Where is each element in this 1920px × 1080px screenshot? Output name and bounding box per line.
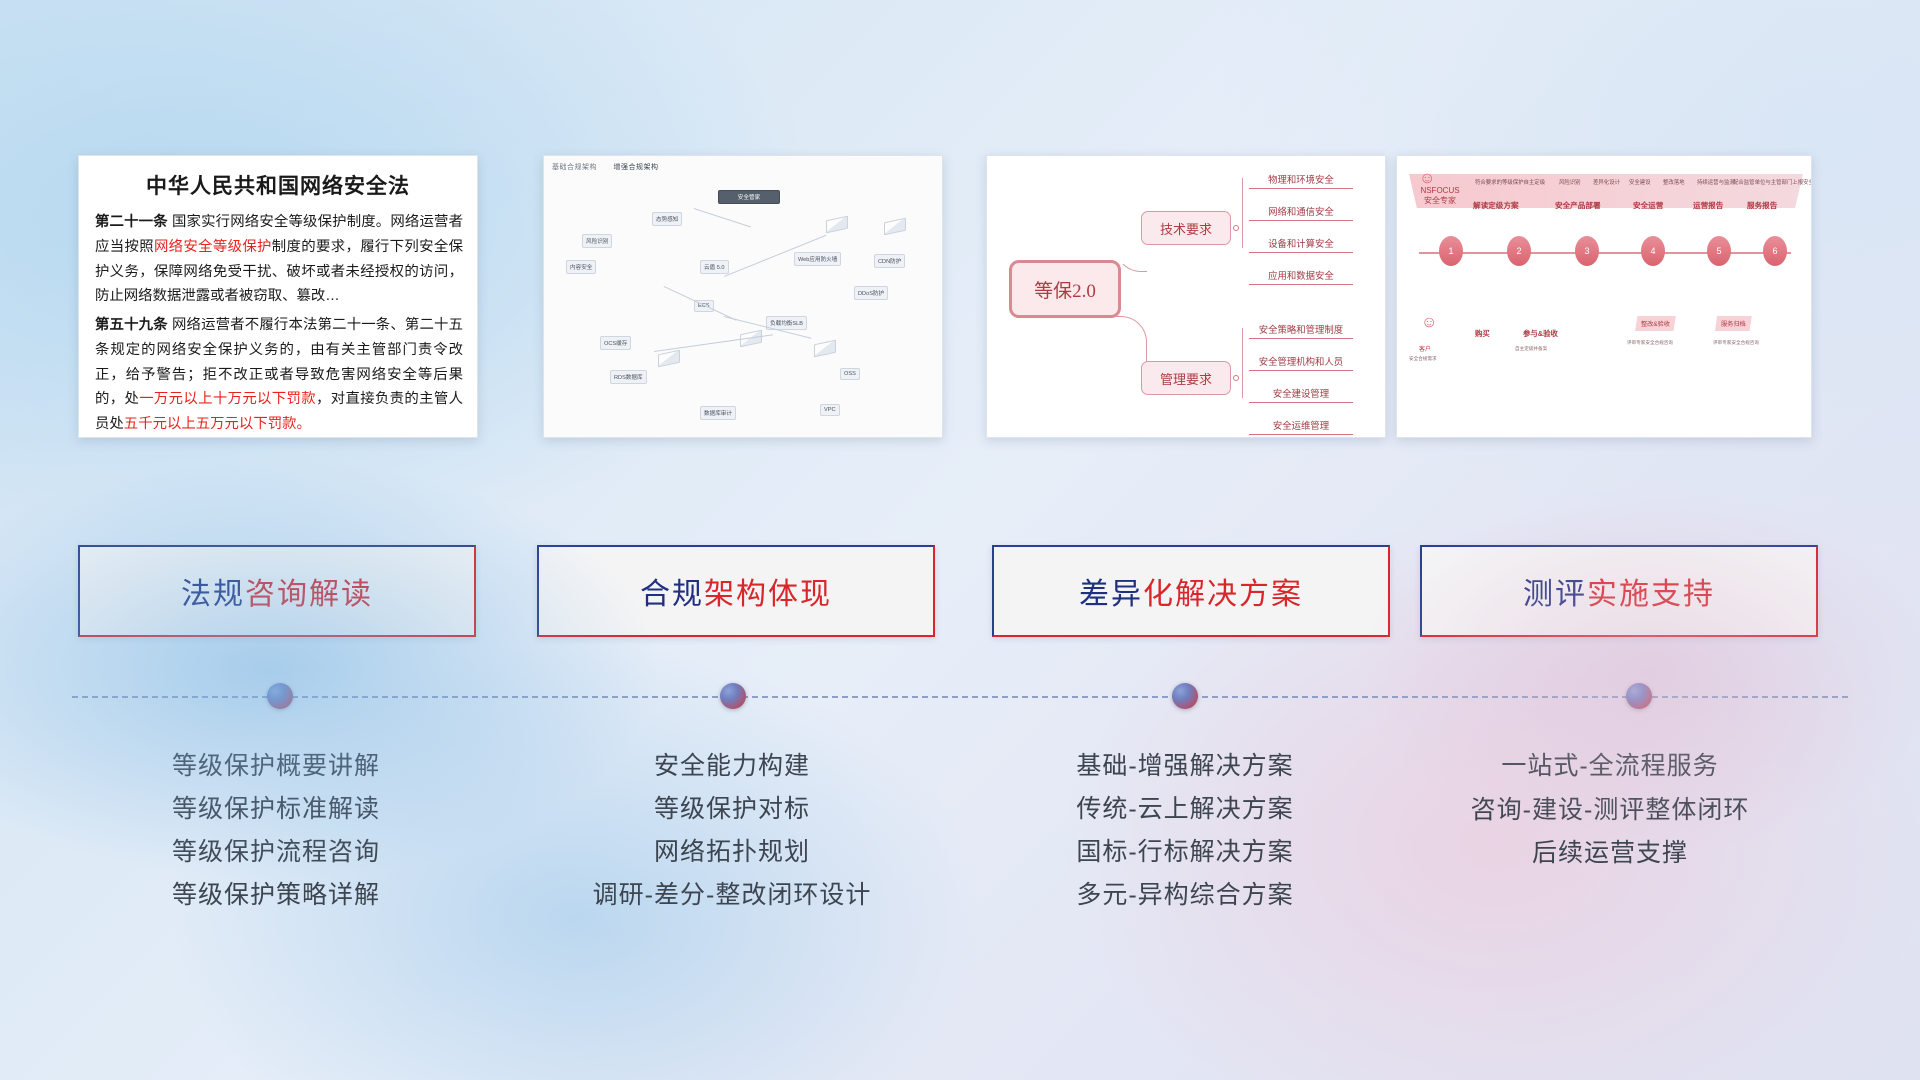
arch-node-cloud-shield: 云盾 5.0 (700, 260, 729, 274)
roadmap-top-label-1: 风险识别 (1559, 178, 1581, 186)
arch-cube-icon-5 (658, 352, 680, 365)
timeline-dot-4[interactable] (1626, 683, 1652, 709)
roadmap-chip-1: 服务归档 (1715, 316, 1752, 331)
arch-link-1 (694, 208, 751, 227)
arch-node-security-butler: 安全管家 (718, 190, 780, 204)
roadmap-brand: NSFOCUS 安全专家 (1413, 186, 1467, 206)
pill-3-suffix: 化解决方案 (1143, 569, 1303, 613)
pill-2-prefix: 合规 (640, 569, 704, 613)
customer-person-icon: ☺ (1421, 314, 1437, 332)
image-card-row: 中华人民共和国网络安全法 第二十一条 国家实行网络安全等级保护制度。网络运营者应… (0, 155, 1920, 445)
roadmap-brand-name: NSFOCUS (1413, 186, 1467, 196)
roadmap-customer-note: 安全合规需求 (1409, 356, 1437, 362)
law-article-21-label: 第二十一条 (95, 214, 168, 230)
list-item: 多元-异构综合方案 (975, 874, 1395, 917)
mindmap-leaf-operations: 安全运维管理 (1249, 418, 1353, 435)
roadmap-chip-note-0: 评审专家安全合规咨询 (1627, 340, 1673, 346)
list-item: 一站式-全流程服务 (1400, 745, 1820, 789)
roadmap-top-label-0: 符合要求的等级保护自主定级 (1475, 178, 1545, 186)
roadmap-stage-label-1: 安全产品部署 (1555, 200, 1601, 211)
arch-cube-icon-4 (814, 342, 836, 355)
pill-4-prefix: 测评 (1523, 569, 1587, 613)
arch-node-cdn: CDN防护 (874, 254, 905, 268)
law-article-21: 第二十一条 国家实行网络安全等级保护制度。网络运营者应当按照网络安全等级保护制度… (95, 210, 463, 309)
mindmap-leaf-device-compute: 设备和计算安全 (1249, 236, 1353, 253)
pill-compliance-architecture[interactable]: 合规架构体现 (537, 545, 935, 637)
card-dengbao-mindmap[interactable]: 等保2.0 技术要求 物理和环境安全 网络和通信安全 设备和计算安全 应用和数据… (986, 155, 1386, 438)
arch-node-ocs: OCS缓存 (600, 336, 631, 350)
mindmap: 等保2.0 技术要求 物理和环境安全 网络和通信安全 设备和计算安全 应用和数据… (987, 156, 1385, 437)
roadmap-chip-note-1: 评审专家安全合规咨询 (1713, 340, 1759, 346)
arch-cube-icon-2 (884, 220, 906, 233)
list-item: 等级保护对标 (522, 788, 942, 831)
arch-node-content-security: 内容安全 (566, 260, 596, 274)
arch-node-ddos: DDoS防护 (854, 286, 888, 300)
timeline-dot-1[interactable] (267, 683, 293, 709)
list-item: 后续运营支撑 (1400, 832, 1820, 876)
arch-node-risk-id: 风险识别 (582, 234, 612, 248)
card-compliance-architecture[interactable]: 基础合规架构 增强合规架构 安全管家 态势感知 风险识别 内容安全 云盾 5.0… (543, 155, 943, 438)
timeline-dashed-line (72, 696, 1848, 698)
pill-3-prefix: 差异 (1079, 569, 1143, 613)
roadmap-step-4[interactable]: 4 (1641, 236, 1665, 266)
law-article-59-highlight-1: 一万元以上十万元以下罚款 (139, 391, 316, 407)
detail-list-2: 安全能力构建 等级保护对标 网络拓扑规划 调研-差分-整改闭环设计 (522, 745, 942, 917)
mindmap-leaf-physical-env: 物理和环境安全 (1249, 172, 1353, 189)
roadmap-mid-note: 自主定级并备案 (1515, 346, 1547, 352)
mindmap-leaf-org-personnel: 安全管理机构和人员 (1249, 354, 1353, 371)
roadmap-mid-tag-1: 参与&验收 (1523, 328, 1558, 339)
list-item: 等级保护策略详解 (66, 874, 486, 917)
pill-1-suffix: 咨询解读 (245, 569, 373, 613)
list-item: 基础-增强解决方案 (975, 745, 1395, 788)
architecture-tab-basic[interactable]: 基础合规架构 (552, 164, 597, 171)
mindmap-spine-technical (1242, 178, 1243, 248)
detail-list-row: 等级保护概要讲解 等级保护标准解读 等级保护流程咨询 等级保护策略详解 安全能力… (0, 745, 1920, 985)
pill-regulation-consulting[interactable]: 法规咨询解读 (78, 545, 476, 637)
mindmap-leaf-construction: 安全建设管理 (1249, 386, 1353, 403)
law-article-59: 第五十九条 网络运营者不履行本法第二十一条、第二十五条规定的网络安全保护义务的，… (95, 313, 463, 437)
roadmap-top-label-5: 持续运营与监测 (1697, 178, 1735, 186)
law-article-59-label: 第五十九条 (95, 317, 168, 333)
roadmap-top-label-4: 整改落地 (1663, 178, 1685, 186)
detail-list-1: 等级保护概要讲解 等级保护标准解读 等级保护流程咨询 等级保护策略详解 (66, 745, 486, 917)
list-item: 咨询-建设-测评整体闭环 (1400, 789, 1820, 833)
pill-row: 法规咨询解读 合规架构体现 差异化解决方案 测评实施支持 (0, 545, 1920, 641)
roadmap-top-label-2: 差异化设计 (1593, 178, 1620, 186)
law-body: 第二十一条 国家实行网络安全等级保护制度。网络运营者应当按照网络安全等级保护制度… (79, 200, 477, 437)
roadmap-top-label-3: 安全建设 (1629, 178, 1651, 186)
roadmap-axis (1419, 252, 1791, 254)
pill-assessment-support[interactable]: 测评实施支持 (1420, 545, 1818, 637)
list-item: 等级保护标准解读 (66, 788, 486, 831)
roadmap-stage-label-3: 运营报告 (1693, 200, 1723, 211)
roadmap-customer-tag: 客户 (1419, 344, 1431, 353)
arch-node-waf: Web应用防火墙 (794, 252, 841, 266)
law-article-21-highlight: 网络安全等级保护 (154, 239, 272, 255)
timeline-dot-2[interactable] (720, 683, 746, 709)
roadmap-chip-0: 整改&验收 (1635, 316, 1676, 331)
law-article-59-highlight-2: 五千元以上五万元以下罚款。 (124, 416, 311, 432)
mindmap-branch-technical: 技术要求 (1141, 211, 1231, 245)
roadmap-brand-sub: 安全专家 (1413, 196, 1467, 206)
mindmap-leaf-policy-system: 安全策略和管理制度 (1249, 322, 1353, 339)
card-cybersecurity-law[interactable]: 中华人民共和国网络安全法 第二十一条 国家实行网络安全等级保护制度。网络运营者应… (78, 155, 478, 438)
slide-canvas: 中华人民共和国网络安全法 第二十一条 国家实行网络安全等级保护制度。网络运营者应… (0, 0, 1920, 1080)
roadmap-step-1[interactable]: 1 (1439, 236, 1463, 266)
list-item: 安全能力构建 (522, 745, 942, 788)
pill-1-prefix: 法规 (181, 569, 245, 613)
roadmap-step-2[interactable]: 2 (1507, 236, 1531, 266)
arch-node-rds: RDS数据库 (610, 370, 647, 384)
roadmap-step-6[interactable]: 6 (1763, 236, 1787, 266)
timeline (72, 695, 1848, 699)
architecture-tab-enhanced[interactable]: 增强合规架构 (613, 164, 658, 171)
mindmap-collapse-dot-management[interactable] (1233, 375, 1239, 381)
mindmap-collapse-dot-technical[interactable] (1233, 225, 1239, 231)
pill-4-suffix: 实施支持 (1587, 569, 1715, 613)
list-item: 调研-差分-整改闭环设计 (522, 874, 942, 917)
arch-cube-icon-1 (826, 218, 848, 231)
roadmap-stage-label-0: 解读定级方案 (1473, 200, 1519, 211)
card-nsfocus-roadmap[interactable]: ☺ NSFOCUS 安全专家 符合要求的等级保护自主定级 风险识别 差异化设计 … (1396, 155, 1812, 438)
pill-differentiated-solution[interactable]: 差异化解决方案 (992, 545, 1390, 637)
arch-node-vpc: VPC (820, 404, 840, 416)
architecture-tabs: 基础合规架构 增强合规架构 (552, 162, 672, 172)
roadmap-top-label-6: 配合监管单位与主管部门上报安全合规报告 (1733, 178, 1812, 186)
roadmap-mid-tag-0: 购买 (1475, 328, 1490, 339)
roadmap-stage-label-4: 服务报告 (1747, 200, 1777, 211)
list-item: 网络拓扑规划 (522, 831, 942, 874)
list-item: 国标-行标解决方案 (975, 831, 1395, 874)
law-title: 中华人民共和国网络安全法 (79, 170, 477, 200)
roadmap-step-5[interactable]: 5 (1707, 236, 1731, 266)
mindmap-root: 等保2.0 (1009, 260, 1121, 318)
timeline-dot-3[interactable] (1172, 683, 1198, 709)
mindmap-spine-management (1242, 328, 1243, 398)
detail-list-3: 基础-增强解决方案 传统-云上解决方案 国标-行标解决方案 多元-异构综合方案 (975, 745, 1395, 917)
mindmap-leaf-app-data: 应用和数据安全 (1249, 268, 1353, 285)
list-item: 等级保护流程咨询 (66, 831, 486, 874)
arch-node-situational-awareness: 态势感知 (652, 212, 682, 226)
roadmap-stage-label-2: 安全运营 (1633, 200, 1663, 211)
mindmap-branch-management: 管理要求 (1141, 361, 1231, 395)
list-item: 传统-云上解决方案 (975, 788, 1395, 831)
architecture-diagram: 基础合规架构 增强合规架构 安全管家 态势感知 风险识别 内容安全 云盾 5.0… (544, 156, 942, 437)
detail-list-4: 一站式-全流程服务 咨询-建设-测评整体闭环 后续运营支撑 (1400, 745, 1820, 876)
pill-2-suffix: 架构体现 (704, 569, 832, 613)
list-item: 等级保护概要讲解 (66, 745, 486, 788)
roadmap-diagram: ☺ NSFOCUS 安全专家 符合要求的等级保护自主定级 风险识别 差异化设计 … (1397, 156, 1811, 437)
arch-node-oss: OSS (840, 368, 860, 380)
mindmap-leaf-network-comm: 网络和通信安全 (1249, 204, 1353, 221)
roadmap-step-3[interactable]: 3 (1575, 236, 1599, 266)
arch-node-db-audit: 数据库审计 (700, 406, 736, 420)
